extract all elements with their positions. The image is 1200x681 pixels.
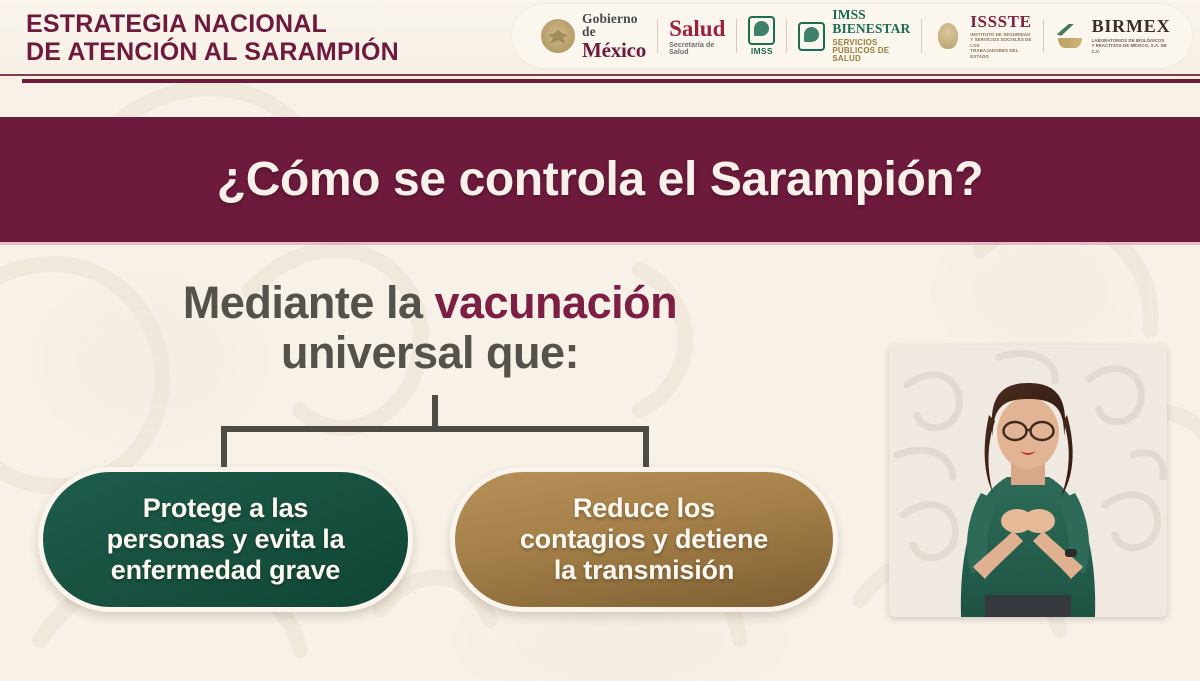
card-reduce[interactable]: Reduce los contagios y detiene la transm…	[450, 467, 838, 612]
salud-label: Salud	[669, 17, 725, 40]
lead-text-part2: universal que:	[281, 327, 579, 378]
card-reduce-text: Reduce los contagios y detiene la transm…	[520, 493, 768, 587]
sign-language-interpreter-video[interactable]	[889, 345, 1167, 617]
page-title: ¿Cómo se controla el Sarampión?	[217, 152, 983, 207]
government-logo-strip: Gobierno de México Salud Secretaría de S…	[512, 4, 1192, 68]
slide-root: ESTRATEGIA NACIONAL DE ATENCIÓN AL SARAM…	[0, 0, 1200, 681]
lead-text-accent: vacunación	[434, 277, 677, 328]
header-rule-thin	[0, 74, 1200, 76]
birmex-label: BIRMEX	[1092, 17, 1171, 35]
logo-salud: Salud Secretaría de Salud	[658, 14, 736, 58]
issste-sublabel: INSTITUTO DE SEGURIDAD Y SERVICIOS SOCIA…	[970, 32, 1031, 60]
card-protege-text: Protege a las personas y evita la enferm…	[107, 493, 345, 587]
page-header: ESTRATEGIA NACIONAL DE ATENCIÓN AL SARAM…	[0, 0, 1200, 80]
logo-birmex: BIRMEX LABORATORIOS DE BIOLÓGICOS Y REAC…	[1044, 14, 1182, 58]
card-protege[interactable]: Protege a las personas y evita la enferm…	[38, 467, 413, 612]
issste-emblem-icon	[933, 20, 963, 52]
lead-statement: Mediante la vacunaciónuniversal que:	[60, 278, 800, 379]
imss-bienestar-emblem-icon	[798, 22, 825, 51]
lead-text-part1: Mediante la	[183, 277, 435, 328]
imss-bienestar-label: IMSS BIENESTAR	[832, 8, 910, 36]
birmex-emblem-icon	[1055, 22, 1085, 50]
interpreter-frame	[889, 345, 1167, 617]
connector-bracket	[220, 395, 650, 467]
logo-imss: IMSS	[737, 14, 786, 58]
salud-sublabel: Secretaría de Salud	[669, 42, 725, 56]
mexican-eagle-icon	[541, 19, 575, 53]
logo-imss-bienestar: IMSS BIENESTAR SERVICIOS PÚBLICOS DE SAL…	[787, 14, 921, 58]
imss-emblem-icon	[748, 16, 775, 45]
birmex-sublabel: LABORATORIOS DE BIOLÓGICOS Y REACTIVOS D…	[1092, 38, 1171, 55]
issste-label: ISSSTE	[970, 13, 1031, 30]
header-rule	[22, 79, 1200, 83]
gobierno-label-line2: México	[582, 40, 646, 61]
imss-bienestar-sublabel: SERVICIOS PÚBLICOS DE SALUD	[832, 39, 910, 64]
title-banner: ¿Cómo se controla el Sarampión?	[0, 117, 1200, 242]
logo-issste: ISSSTE INSTITUTO DE SEGURIDAD Y SERVICIO…	[922, 14, 1042, 58]
gobierno-label-line1: Gobierno de	[582, 12, 646, 39]
imss-label: IMSS	[751, 46, 773, 56]
logo-gobierno-de-mexico: Gobierno de México	[530, 14, 657, 58]
strategy-title: ESTRATEGIA NACIONAL DE ATENCIÓN AL SARAM…	[26, 10, 399, 66]
